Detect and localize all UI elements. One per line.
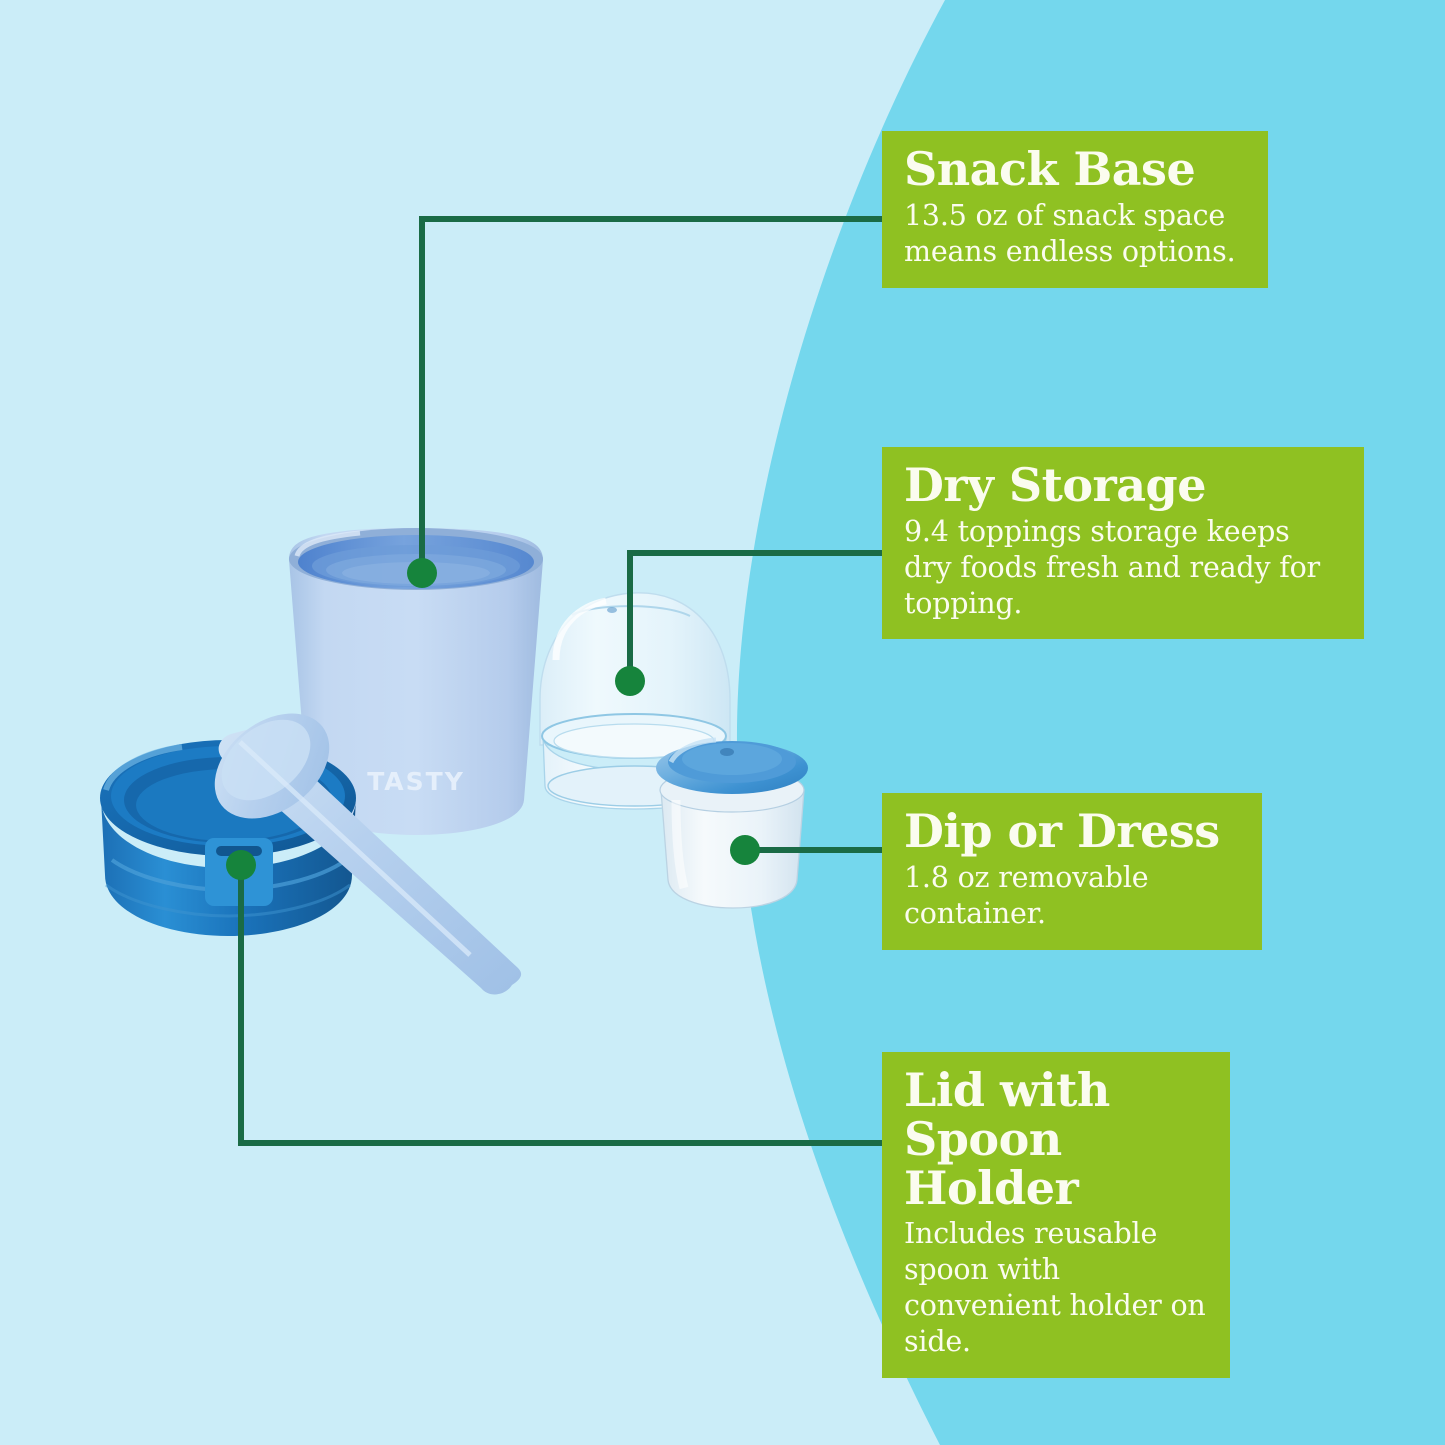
callout-title-snack-base: Snack Base: [904, 145, 1246, 194]
leader-line-snack-base: [422, 219, 888, 573]
callout-title-lid-with-spoon-holder: Lid with Spoon Holder: [904, 1066, 1208, 1212]
callout-body-dip-or-dress: 1.8 oz removable container.: [904, 860, 1240, 932]
callout-title-dip-or-dress: Dip or Dress: [904, 807, 1240, 856]
callout-body-dry-storage: 9.4 toppings storage keeps dry foods fre…: [904, 514, 1342, 622]
callout-title-dry-storage: Dry Storage: [904, 461, 1342, 510]
infographic-canvas: TASTY: [0, 0, 1445, 1445]
leader-line-lid-with-spoon-holder: [241, 865, 888, 1143]
callout-lid-with-spoon-holder: Lid with Spoon Holder Includes reusable …: [882, 1052, 1230, 1378]
leader-dot-snack-base: [407, 558, 437, 588]
leader-dot-dip-or-dress: [730, 835, 760, 865]
callout-body-snack-base: 13.5 oz of snack space means endless opt…: [904, 198, 1246, 270]
callout-snack-base: Snack Base 13.5 oz of snack space means …: [882, 131, 1268, 288]
callout-body-lid-with-spoon-holder: Includes reusable spoon with convenient …: [904, 1216, 1208, 1360]
leader-dot-lid-with-spoon-holder: [226, 850, 256, 880]
leader-dot-dry-storage: [615, 666, 645, 696]
callout-dry-storage: Dry Storage 9.4 toppings storage keeps d…: [882, 447, 1364, 639]
leader-line-dry-storage: [630, 553, 888, 681]
callout-dip-or-dress: Dip or Dress 1.8 oz removable container.: [882, 793, 1262, 950]
